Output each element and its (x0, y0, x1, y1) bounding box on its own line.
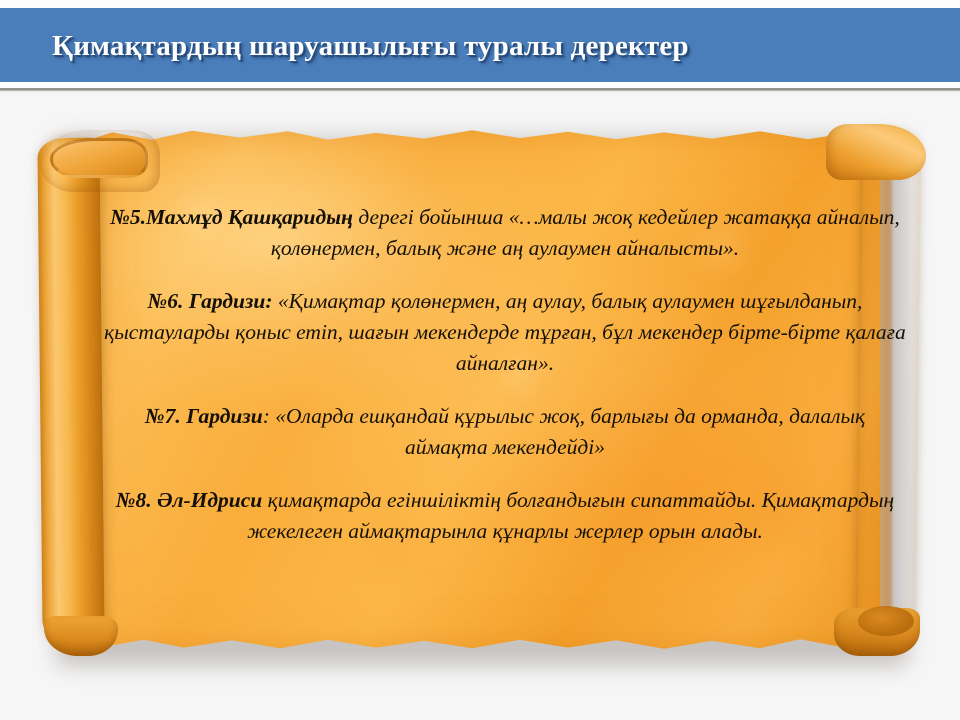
scroll-right-curl-top (826, 124, 926, 180)
scroll-text-block: №5.Махмұд Қашқаридың дерегі бойынша «…ма… (104, 202, 906, 547)
scroll-left-curl (37, 138, 104, 643)
slide: Қимақтардың шаруашылығы туралы деректер … (0, 0, 960, 720)
parchment-scroll: №5.Махмұд Қашқаридың дерегі бойынша «…ма… (22, 108, 938, 680)
source-body: қимақтарда егіншіліктің болғандығын сипа… (247, 488, 894, 543)
source-label: №6. Гардизи: (148, 289, 273, 313)
source-label: №5.Махмұд Қашқаридың (110, 205, 353, 229)
title-band: Қимақтардың шаруашылығы туралы деректер (0, 8, 960, 82)
page-title: Қимақтардың шаруашылығы туралы деректер (52, 28, 912, 64)
source-body: : «Оларда ешқандай құрылыс жоқ, барлығы … (263, 404, 865, 459)
source-paragraph: №5.Махмұд Қашқаридың дерегі бойынша «…ма… (104, 202, 906, 264)
source-body: дерегі бойынша «…малы жоқ кедейлер жатақ… (271, 205, 900, 260)
scroll-left-curl-lip (50, 138, 148, 178)
source-label: №7. Гардизи (145, 404, 263, 428)
scroll-right-curl-lip (858, 606, 914, 636)
source-paragraph: №8. Әл-Идриси қимақтарда егіншіліктің бо… (104, 485, 906, 547)
source-paragraph: №7. Гардизи: «Оларда ешқандай құрылыс жо… (104, 401, 906, 463)
source-label: №8. Әл-Идриси (116, 488, 263, 512)
source-paragraph: №6. Гардизи: «Қимақтар қолөнермен, аң ау… (104, 286, 906, 379)
